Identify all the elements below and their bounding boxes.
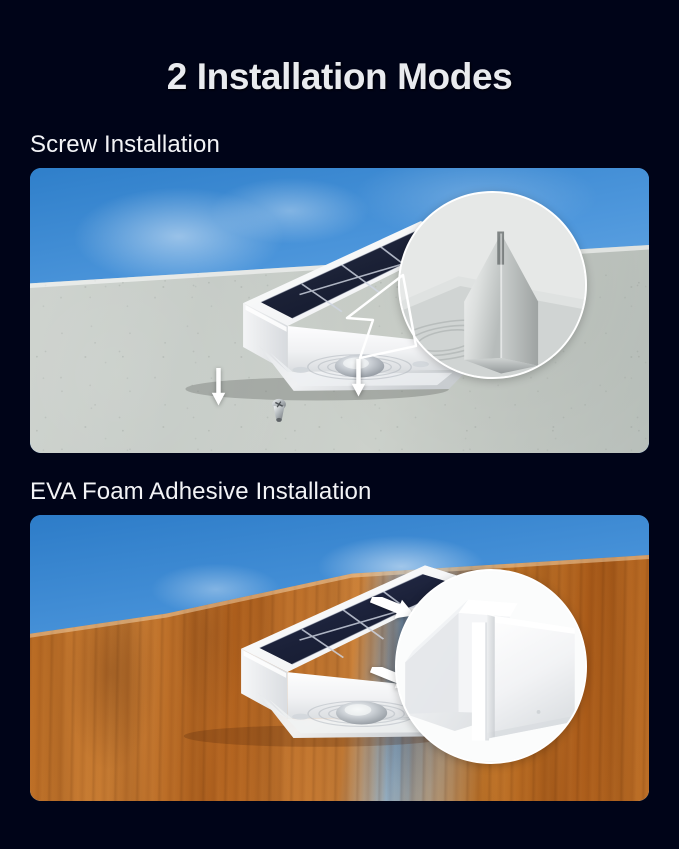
infographic-page: 2 Installation Modes Screw Installation [0, 0, 679, 849]
screw-icon [268, 397, 290, 423]
panel-screw-installation [30, 168, 649, 453]
page-title: 2 Installation Modes [0, 56, 679, 98]
magnifier-circle-icon [395, 569, 587, 763]
arrow-down-icon [211, 368, 226, 412]
magnifier-circle-icon [398, 191, 587, 379]
section-label-eva-foam: EVA Foam Adhesive Installation [30, 478, 371, 506]
scene-eva-foam [30, 515, 649, 801]
section-label-screw: Screw Installation [30, 131, 220, 159]
arrow-down-icon [351, 359, 366, 403]
scene-screw [30, 168, 649, 453]
panel-eva-foam-installation [30, 515, 649, 801]
